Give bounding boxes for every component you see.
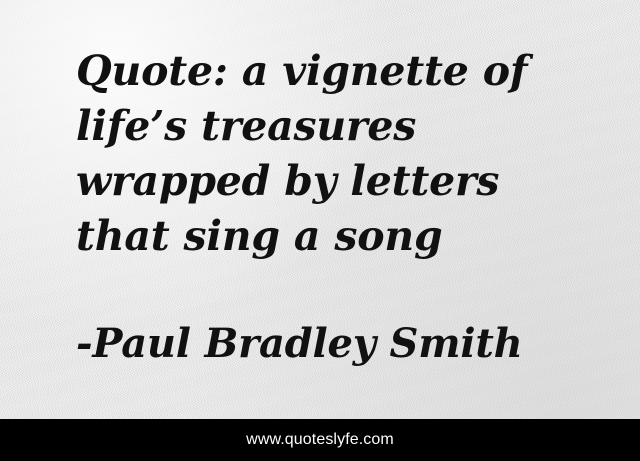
quote-text: Quote: a vignette of life’s treasures wr… <box>76 44 586 264</box>
quote-author: -Paul Bradley Smith <box>76 318 522 370</box>
site-url-label[interactable]: www.quoteslyfe.com <box>246 431 394 449</box>
quote-card: Quote: a vignette of life’s treasures wr… <box>0 0 640 461</box>
site-footer-bar: www.quoteslyfe.com <box>0 419 640 461</box>
quote-body: Quote: a vignette of life’s treasures wr… <box>76 44 586 264</box>
